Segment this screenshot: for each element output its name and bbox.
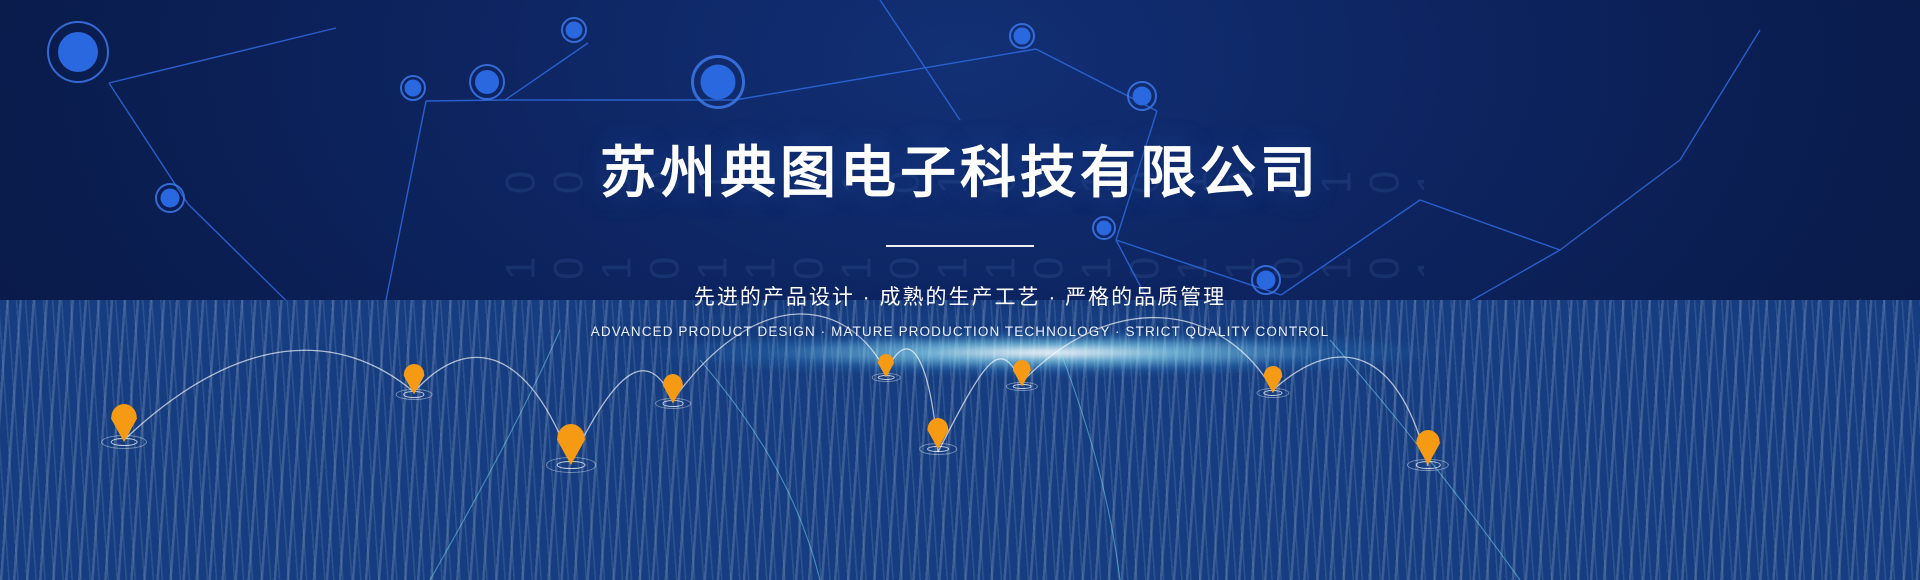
- map-pin-3[interactable]: [546, 424, 596, 480]
- map-pin-2[interactable]: [396, 364, 433, 406]
- map-pin-8[interactable]: [1256, 366, 1289, 403]
- page-title: 苏州典图电子科技有限公司: [0, 128, 1920, 209]
- map-pin-9[interactable]: [1407, 430, 1449, 478]
- map-pin-7[interactable]: [1006, 360, 1038, 396]
- map-pin-5[interactable]: [872, 354, 901, 386]
- title-divider: [886, 245, 1034, 247]
- tagline-english: ADVANCED PRODUCT DESIGN · MATURE PRODUCT…: [0, 324, 1920, 339]
- map-pin-1[interactable]: [101, 404, 147, 456]
- tagline-chinese: 先进的产品设计 · 成熟的生产工艺 · 严格的品质管理: [0, 281, 1920, 311]
- map-pin-6[interactable]: [919, 418, 957, 461]
- banner-content: 苏州典图电子科技有限公司 先进的产品设计 · 成熟的生产工艺 · 严格的品质管理…: [0, 0, 1920, 339]
- map-pin-4[interactable]: [655, 374, 691, 415]
- hero-banner: 0 0 1 1 0 0 0 1 1 0 1 1 1 1 0 1 1 1 1 0 …: [0, 0, 1920, 580]
